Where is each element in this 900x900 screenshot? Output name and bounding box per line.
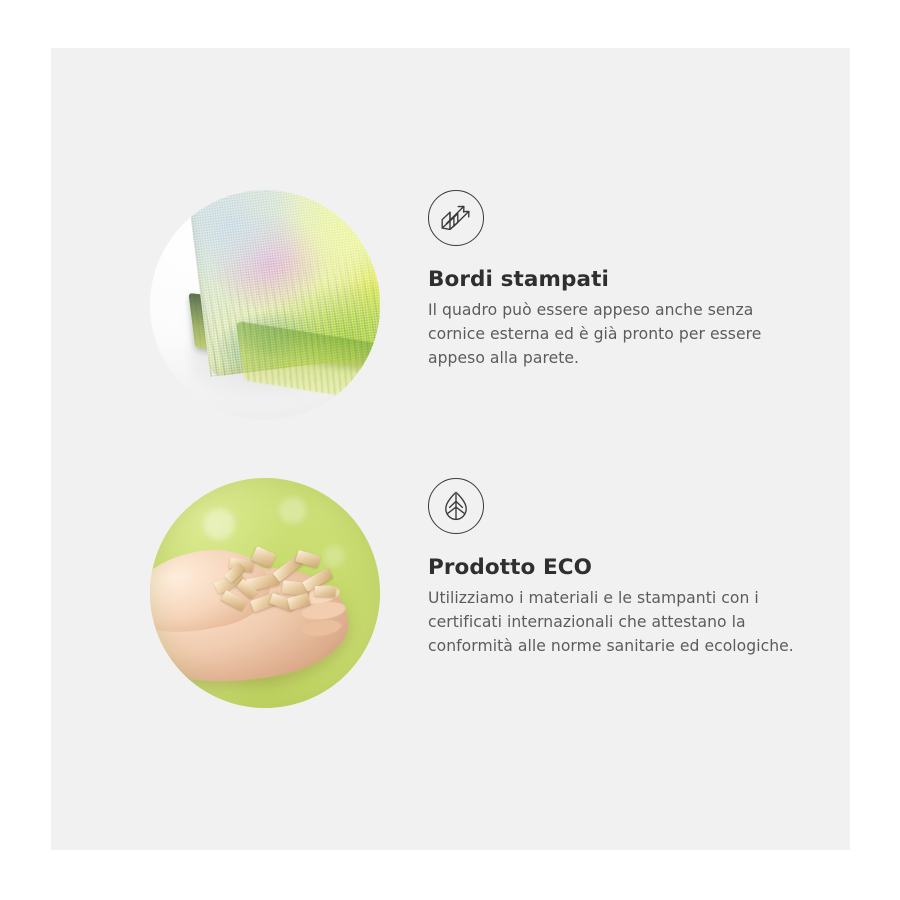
feature-description: Il quadro può essere appeso anche senza …: [428, 298, 794, 370]
photo-vignette: [150, 478, 380, 708]
product-feature-infographic: Bordi stampati Il quadro può essere appe…: [0, 0, 900, 900]
eco-photo-scene: [150, 478, 380, 708]
feature-title: Bordi stampati: [428, 266, 808, 294]
canvas-corner-photo: [150, 190, 380, 420]
feature-printed-edges-body: Bordi stampati Il quadro può essere appe…: [428, 190, 808, 370]
leaf-icon: [428, 478, 484, 534]
wood-chips-hands-photo: [150, 478, 380, 708]
content-panel: Bordi stampati Il quadro può essere appe…: [51, 48, 850, 850]
feature-description: Utilizziamo i materiali e le stampanti c…: [428, 586, 794, 658]
wrapped-canvas-edge-icon: [428, 190, 484, 246]
feature-eco-product-body: Prodotto ECO Utilizziamo i materiali e l…: [428, 478, 808, 658]
canvas-photo-scene: [150, 190, 380, 420]
feature-title: Prodotto ECO: [428, 554, 808, 582]
